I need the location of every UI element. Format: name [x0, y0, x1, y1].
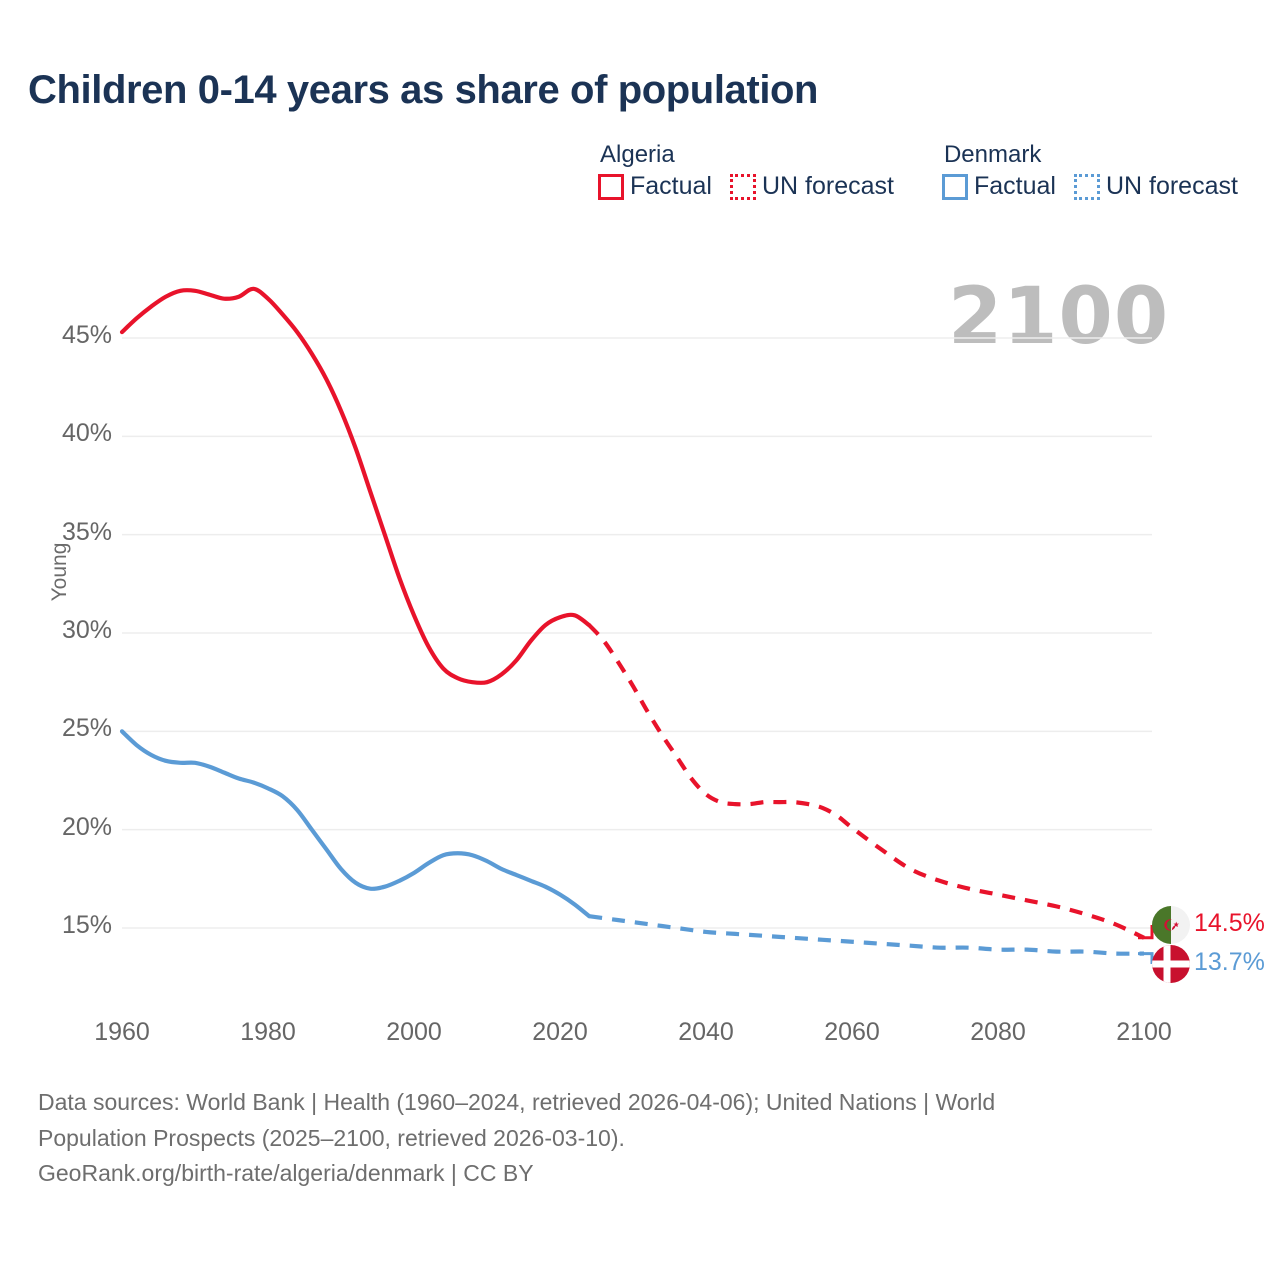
- end-label-algeria: 14.5%: [1194, 909, 1265, 938]
- legend-group-denmark: Denmark Factual UN forecast: [942, 142, 1238, 201]
- x-axis-tick: 1960: [67, 1018, 177, 1047]
- legend-item-algeria-factual[interactable]: Factual: [598, 172, 712, 201]
- legend-label-denmark-factual: Factual: [974, 172, 1056, 201]
- legend-label-algeria-factual: Factual: [630, 172, 712, 201]
- legend-label-algeria-forecast: UN forecast: [762, 172, 894, 201]
- x-axis-tick: 2060: [797, 1018, 907, 1047]
- legend-group-algeria: Algeria Factual UN forecast: [598, 142, 894, 201]
- y-axis-tick: 25%: [32, 714, 112, 743]
- x-axis-tick: 1980: [213, 1018, 323, 1047]
- square-outline-icon: [942, 174, 968, 200]
- y-axis-tick: 40%: [32, 419, 112, 448]
- square-dotted-icon: [1074, 174, 1100, 200]
- y-axis-tick: 45%: [32, 321, 112, 350]
- chart-legend: Algeria Factual UN forecast Denmark Fact…: [598, 142, 1238, 201]
- page-title: Children 0-14 years as share of populati…: [28, 68, 818, 113]
- square-dotted-icon: [730, 174, 756, 200]
- year-watermark: 2100: [948, 272, 1169, 362]
- x-axis-tick: 2000: [359, 1018, 469, 1047]
- square-outline-icon: [598, 174, 624, 200]
- y-axis-tick: 15%: [32, 911, 112, 940]
- footer-credits: Data sources: World Bank | Health (1960–…: [38, 1085, 1218, 1192]
- footer-line-2: Population Prospects (2025–2100, retriev…: [38, 1121, 1218, 1157]
- legend-country-denmark: Denmark: [942, 142, 1238, 168]
- footer-line-1: Data sources: World Bank | Health (1960–…: [38, 1085, 1218, 1121]
- y-axis-label: Young: [48, 507, 72, 637]
- denmark-flag-icon: [1152, 945, 1190, 983]
- legend-country-algeria: Algeria: [598, 142, 894, 168]
- y-axis-tick: 35%: [32, 518, 112, 547]
- y-axis-tick: 30%: [32, 616, 112, 645]
- x-axis-tick: 2020: [505, 1018, 615, 1047]
- legend-item-algeria-forecast[interactable]: UN forecast: [730, 172, 894, 201]
- legend-item-denmark-forecast[interactable]: UN forecast: [1074, 172, 1238, 201]
- x-axis-tick: 2080: [943, 1018, 1053, 1047]
- end-label-denmark: 13.7%: [1194, 948, 1265, 977]
- y-axis-tick: 20%: [32, 813, 112, 842]
- algeria-flag-icon: [1152, 906, 1190, 944]
- legend-item-denmark-factual[interactable]: Factual: [942, 172, 1056, 201]
- legend-label-denmark-forecast: UN forecast: [1106, 172, 1238, 201]
- x-axis-tick: 2100: [1089, 1018, 1199, 1047]
- footer-line-3[interactable]: GeoRank.org/birth-rate/algeria/denmark |…: [38, 1156, 1218, 1192]
- x-axis-tick: 2040: [651, 1018, 761, 1047]
